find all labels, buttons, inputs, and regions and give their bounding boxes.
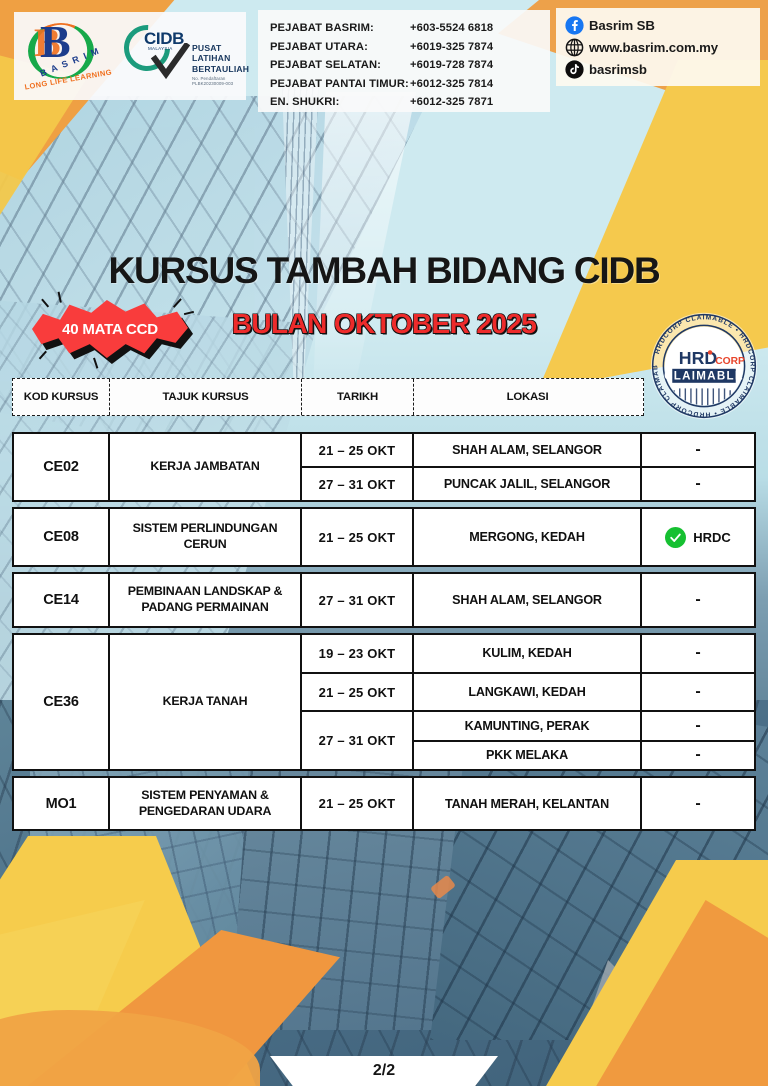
- page-title: KURSUS TAMBAH BIDANG CIDB: [0, 250, 768, 292]
- cell-hrdc: -: [642, 742, 754, 769]
- cell-hrdc: -: [642, 635, 754, 672]
- contact-label: PEJABAT PANTAI TIMUR:: [270, 75, 410, 94]
- cell-tarikh: 21 – 25 OKT: [302, 509, 414, 565]
- social-row-facebook[interactable]: Basrim SB: [565, 14, 754, 36]
- cell-tarikh: 21 – 25 OKT: [302, 674, 414, 711]
- schedule-sub-row: 21 – 25 OKT MERGONG, KEDAH HRDC: [302, 509, 754, 565]
- cell-lokasi: PKK MELAKA: [414, 742, 642, 769]
- hrdc-value: -: [695, 441, 700, 459]
- contact-row: PEJABAT SELATAN: +6019-728 7874: [270, 56, 540, 75]
- badge-starburst: 40 MATA CCD: [32, 300, 188, 358]
- table-header: KOD KURSUS TAJUK KURSUS TARIKH LOKASI: [12, 378, 644, 416]
- cell-hrdc: -: [642, 712, 754, 739]
- cell-hrdc: -: [642, 574, 754, 626]
- cell-kod: CE14: [14, 574, 110, 626]
- schedule-sub-row: 21 – 25 OKT LANGKAWI, KEDAH -: [302, 672, 754, 711]
- cell-lokasi: MERGONG, KEDAH: [414, 509, 642, 565]
- contact-row: PEJABAT UTARA: +6019-325 7874: [270, 38, 540, 57]
- contact-value: +603-5524 6818: [410, 19, 493, 38]
- schedule-sub-row: 27 – 31 OKT SHAH ALAM, SELANGOR -: [302, 574, 754, 626]
- lokasi-stack: KAMUNTING, PERAK - PKK MELAKA -: [414, 712, 754, 769]
- social-panel: Basrim SB www.basrim.com.my basrimsb: [556, 8, 760, 86]
- hrdc-value: -: [695, 644, 700, 662]
- cell-lokasi: KULIM, KEDAH: [414, 635, 642, 672]
- cidb-accreditation-text: PUSAT LATIHAN BERTAULIAH No. Pendaftaran…: [192, 43, 250, 86]
- facebook-icon: [565, 16, 584, 35]
- ccd-points-badge: 40 MATA CCD: [32, 300, 192, 362]
- column-header-kod: KOD KURSUS: [13, 379, 109, 415]
- cell-hrdc: HRDC: [642, 509, 754, 565]
- cell-tarikh: 21 – 25 OKT: [302, 434, 414, 466]
- contact-row: PEJABAT BASRIM: +603-5524 6818: [270, 19, 540, 38]
- cell-schedule-group: 27 – 31 OKT SHAH ALAM, SELANGOR -: [302, 574, 754, 626]
- hrdc-value: -: [695, 795, 700, 813]
- cidb-line1: PUSAT LATIHAN: [192, 43, 250, 64]
- spark-icon: [173, 298, 182, 308]
- social-text-facebook: Basrim SB: [589, 18, 655, 33]
- cell-hrdc: -: [642, 778, 754, 829]
- table-row: MO1 SISTEM PENYAMAN & PENGEDARAN UDARA 2…: [12, 776, 756, 831]
- hrdc-value: -: [695, 475, 700, 493]
- table-row: CE36 KERJA TANAH 19 – 23 OKT KULIM, KEDA…: [12, 633, 756, 771]
- cell-hrdc: -: [642, 674, 754, 711]
- basrim-logo-icon: B B B A S R I M LONG LIFE LEARNING: [22, 17, 114, 95]
- column-header-tajuk: TAJUK KURSUS: [109, 379, 301, 415]
- social-text-tiktok: basrimsb: [589, 62, 647, 77]
- hrdc-value: HRDC: [693, 530, 731, 545]
- cell-tajuk: SISTEM PERLINDUNGAN CERUN: [110, 509, 302, 565]
- hrdc-value: -: [695, 746, 700, 764]
- contact-row: PEJABAT PANTAI TIMUR: +6012-325 7814: [270, 75, 540, 94]
- cell-kod: CE08: [14, 509, 110, 565]
- cell-lokasi: TANAH MERAH, KELANTAN: [414, 778, 642, 829]
- page-number-tag: 2/2: [270, 1056, 498, 1086]
- green-check-icon: [665, 527, 686, 548]
- hrdcorp-claimable-seal: HRDCORP CLAIMABLE • HRDCORP CLAIMABLE • …: [648, 310, 760, 422]
- table-row: CE02 KERJA JAMBATAN 21 – 25 OKT SHAH ALA…: [12, 432, 756, 502]
- cell-lokasi: SHAH ALAM, SELANGOR: [414, 574, 642, 626]
- globe-icon: [565, 38, 584, 57]
- contact-value: +6019-728 7874: [410, 56, 493, 75]
- hrdc-value: -: [695, 591, 700, 609]
- cell-kod: CE36: [14, 635, 110, 769]
- cell-schedule-group: 21 – 25 OKT MERGONG, KEDAH HRDC: [302, 509, 754, 565]
- schedule-sub-row: 21 – 25 OKT TANAH MERAH, KELANTAN -: [302, 778, 754, 829]
- cidb-line2: BERTAULIAH: [192, 64, 250, 74]
- cell-tarikh: 21 – 25 OKT: [302, 778, 414, 829]
- cell-kod: CE02: [14, 434, 110, 500]
- cidb-registration: No. Pendaftaran PLBK20230009-003: [192, 76, 250, 86]
- poster-root: B B B A S R I M LONG LIFE LEARNING CIDB …: [0, 0, 768, 1086]
- contact-label: PEJABAT UTARA:: [270, 38, 410, 57]
- schedule-sub-row: 27 – 31 OKT KAMUNTING, PERAK - PKK MELAK…: [302, 710, 754, 769]
- cell-tarikh: 27 – 31 OKT: [302, 712, 414, 769]
- contact-label: PEJABAT SELATAN:: [270, 56, 410, 75]
- cell-tarikh: 19 – 23 OKT: [302, 635, 414, 672]
- schedule-sub-row: 21 – 25 OKT SHAH ALAM, SELANGOR -: [302, 434, 754, 466]
- cell-kod: MO1: [14, 778, 110, 829]
- cell-hrdc: -: [642, 434, 754, 466]
- contact-value: +6012-325 7871: [410, 93, 493, 112]
- contact-panel: PEJABAT BASRIM: +603-5524 6818 PEJABAT U…: [258, 10, 550, 112]
- cell-tarikh: 27 – 31 OKT: [302, 574, 414, 626]
- contact-value: +6012-325 7814: [410, 75, 493, 94]
- cidb-logo-icon: CIDB MALAYSIA PUSAT LATIHAN BERTAULIAH N…: [122, 19, 250, 93]
- seal-corp-text: CORP: [715, 356, 745, 367]
- spark-icon: [39, 351, 47, 360]
- cell-schedule-group: 21 – 25 OKT SHAH ALAM, SELANGOR - 27 – 3…: [302, 434, 754, 500]
- cell-lokasi: SHAH ALAM, SELANGOR: [414, 434, 642, 466]
- contact-row: EN. SHUKRI: +6012-325 7871: [270, 93, 540, 112]
- schedule-sub-row: 27 – 31 OKT PUNCAK JALIL, SELANGOR -: [302, 466, 754, 500]
- cell-lokasi: LANGKAWI, KEDAH: [414, 674, 642, 711]
- social-text-website: www.basrim.com.my: [589, 40, 718, 55]
- table-row: CE08 SISTEM PERLINDUNGAN CERUN 21 – 25 O…: [12, 507, 756, 567]
- hrdcorp-seal-icon: HRDCORP CLAIMABLE • HRDCORP CLAIMABLE • …: [648, 310, 760, 422]
- badge-label: 40 MATA CCD: [62, 321, 158, 338]
- table-row: CE14 PEMBINAAN LANDSKAP & PADANG PERMAIN…: [12, 572, 756, 628]
- cell-tajuk: SISTEM PENYAMAN & PENGEDARAN UDARA: [110, 778, 302, 829]
- seal-claimable-text: CLAIMABLE: [664, 371, 744, 383]
- lokasi-sub-cell: KAMUNTING, PERAK -: [414, 712, 754, 739]
- tiktok-icon: [565, 60, 584, 79]
- cell-schedule-group: 19 – 23 OKT KULIM, KEDAH - 21 – 25 OKT L…: [302, 635, 754, 769]
- hrdc-value: -: [695, 717, 700, 735]
- course-table: CE02 KERJA JAMBATAN 21 – 25 OKT SHAH ALA…: [12, 432, 756, 836]
- schedule-sub-row: 19 – 23 OKT KULIM, KEDAH -: [302, 635, 754, 672]
- spark-icon: [41, 299, 49, 308]
- cell-tajuk: KERJA JAMBATAN: [110, 434, 302, 500]
- cidb-check-icon: [150, 43, 190, 83]
- column-header-lokasi: LOKASI: [413, 379, 641, 415]
- cell-lokasi: PUNCAK JALIL, SELANGOR: [414, 468, 642, 500]
- cell-tajuk: PEMBINAAN LANDSKAP & PADANG PERMAINAN: [110, 574, 302, 626]
- cell-schedule-group: 21 – 25 OKT TANAH MERAH, KELANTAN -: [302, 778, 754, 829]
- contact-label: PEJABAT BASRIM:: [270, 19, 410, 38]
- hrdc-value: -: [695, 683, 700, 701]
- header-logo-panel: B B B A S R I M LONG LIFE LEARNING CIDB …: [14, 12, 246, 100]
- cell-lokasi: KAMUNTING, PERAK: [414, 712, 642, 739]
- cell-tajuk: KERJA TANAH: [110, 635, 302, 769]
- column-header-tarikh: TARIKH: [301, 379, 413, 415]
- contact-label: EN. SHUKRI:: [270, 93, 410, 112]
- lokasi-sub-cell: PKK MELAKA -: [414, 740, 754, 769]
- page-number: 2/2: [373, 1062, 395, 1080]
- social-row-tiktok[interactable]: basrimsb: [565, 58, 754, 80]
- cell-tarikh: 27 – 31 OKT: [302, 468, 414, 500]
- contact-value: +6019-325 7874: [410, 38, 493, 57]
- social-row-website[interactable]: www.basrim.com.my: [565, 36, 754, 58]
- cell-hrdc: -: [642, 468, 754, 500]
